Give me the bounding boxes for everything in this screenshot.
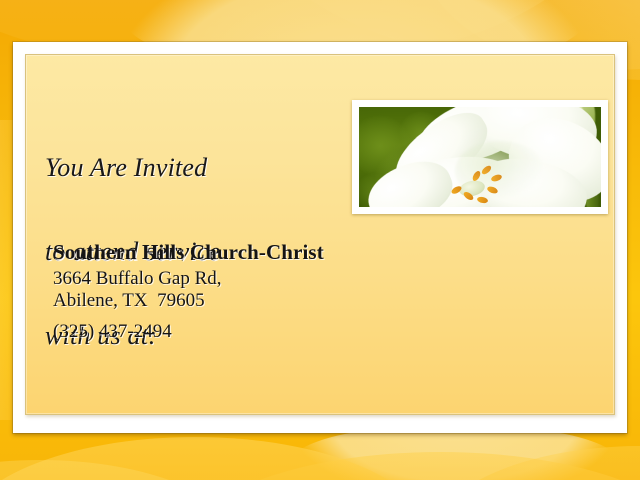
lily-photo <box>359 107 601 207</box>
address-block: Southern Hills Church-Christ 3664 Buffal… <box>53 240 324 343</box>
organization-name: Southern Hills Church-Christ <box>53 240 324 265</box>
photo-frame <box>352 100 608 214</box>
address-city-state-zip: Abilene, TX 79605 <box>53 290 324 312</box>
phone-number: (325) 437-2494 <box>53 321 324 343</box>
address-lines: 3664 Buffalo Gap Rd, Abilene, TX 79605 <box>53 268 324 312</box>
address-street: 3664 Buffalo Gap Rd, <box>53 268 324 290</box>
invitation-slide: You Are Invited to attend service with u… <box>0 0 640 480</box>
headline-line-1: You Are Invited <box>45 154 220 182</box>
